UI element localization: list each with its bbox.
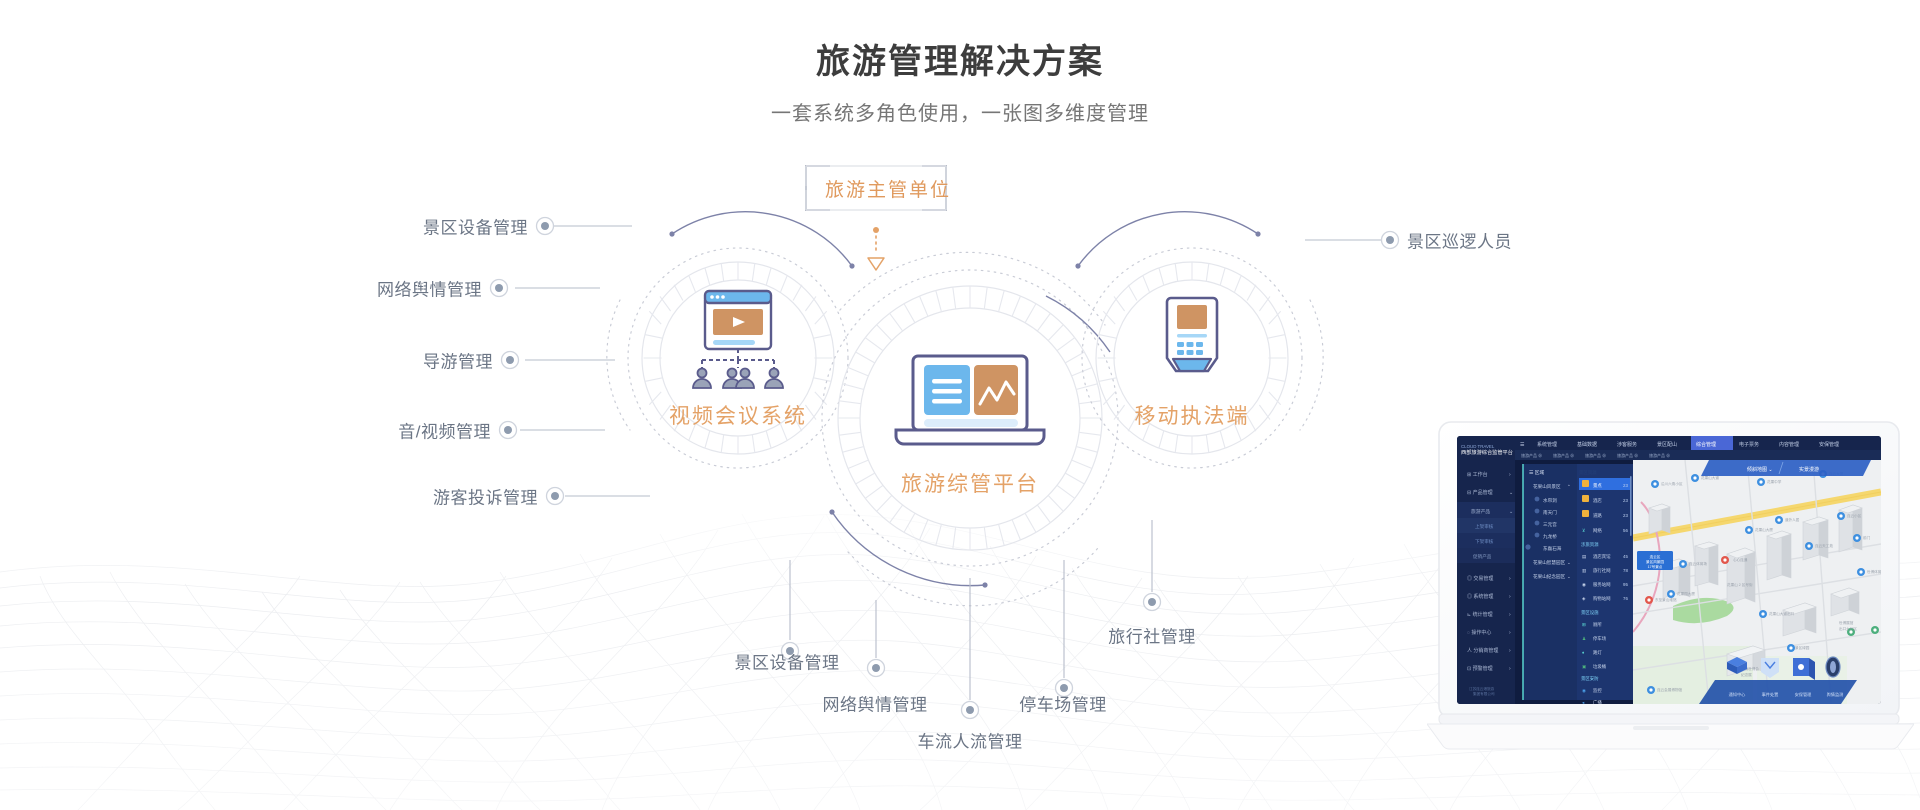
svg-text:三元宫: 三元宫 bbox=[1543, 521, 1557, 528]
svg-text:舆情监测: 舆情监测 bbox=[1827, 691, 1844, 698]
node-label-mobile-enforcement[interactable]: 移动执法端 bbox=[1135, 400, 1250, 430]
bottom-label-3[interactable]: 停车场管理 bbox=[1019, 691, 1107, 716]
svg-text:◎ 系统管理: ◎ 系统管理 bbox=[1467, 593, 1493, 600]
svg-text:倾斜地图 ⌄: 倾斜地图 ⌄ bbox=[1747, 466, 1773, 473]
svg-text:⌄: ⌄ bbox=[1509, 510, 1513, 515]
laptop-mockup[interactable]: 沿川六角小区 花果山大道 花果中学 连云大厦 道外人居 连云小区 前门 连云天工… bbox=[1427, 418, 1914, 763]
svg-text:西部旅游综合监管平台: 西部旅游综合监管平台 bbox=[1461, 448, 1513, 456]
svg-text:CLOUD TRAVEL: CLOUD TRAVEL bbox=[1461, 444, 1495, 449]
svg-text:沿川六角小区: 沿川六角小区 bbox=[1661, 481, 1683, 486]
svg-text:东至景山维馆: 东至景山维馆 bbox=[1655, 597, 1677, 602]
node-label-tourism-platform[interactable]: 旅游综管平台 bbox=[901, 468, 1039, 498]
laptop-dashboard-icon bbox=[896, 356, 1044, 444]
svg-text:景区设施: 景区设施 bbox=[1581, 609, 1599, 616]
svg-text:厕所: 厕所 bbox=[1593, 621, 1602, 628]
svg-text:◎ 交易管理: ◎ 交易管理 bbox=[1467, 575, 1493, 582]
svg-text:景区配山: 景区配山 bbox=[1657, 441, 1677, 448]
left-connector-dots bbox=[491, 218, 564, 505]
svg-text:☰: ☰ bbox=[1520, 442, 1525, 448]
governing-unit-box[interactable]: 旅游主管单位 bbox=[806, 166, 971, 210]
svg-text:出口大厅区: 出口大厅区 bbox=[1839, 626, 1857, 631]
svg-text:⊻: ⊻ bbox=[1582, 528, 1585, 533]
svg-text:旅行社网: 旅行社网 bbox=[1593, 567, 1611, 574]
svg-text:道路: 道路 bbox=[1593, 512, 1602, 519]
svg-text:基础数据: 基础数据 bbox=[1577, 441, 1597, 448]
svg-text:下架审核: 下架审核 bbox=[1475, 538, 1494, 545]
svg-text:连云小区: 连云小区 bbox=[1847, 513, 1862, 518]
svg-text:江苏连云港旅游: 江苏连云港旅游 bbox=[1469, 686, 1495, 691]
svg-text:网络: 网络 bbox=[1593, 527, 1602, 534]
svg-text:停车场: 停车场 bbox=[1593, 635, 1607, 642]
svg-text:心心连通: 心心连通 bbox=[1733, 557, 1748, 562]
svg-text:花果山大道出口: 花果山大道出口 bbox=[1769, 611, 1795, 616]
svg-text:⊞: ⊞ bbox=[1582, 622, 1586, 627]
svg-text:旅游产品 ⊗: 旅游产品 ⊗ bbox=[1585, 452, 1606, 458]
svg-text:花果山 2 区号街: 花果山 2 区号街 bbox=[1727, 582, 1753, 587]
svg-text:服务站网: 服务站网 bbox=[1593, 581, 1611, 588]
svg-text:旅游产品 ⊗: 旅游产品 ⊗ bbox=[1649, 452, 1670, 458]
svg-text:花果山风景区: 花果山风景区 bbox=[1533, 483, 1561, 490]
svg-text:23: 23 bbox=[1623, 513, 1628, 518]
svg-text:⊟ 产品管理: ⊟ 产品管理 bbox=[1467, 489, 1493, 496]
svg-text:电子票务: 电子票务 bbox=[1739, 441, 1759, 448]
svg-text:⊾ 统计管理: ⊾ 统计管理 bbox=[1467, 611, 1493, 618]
svg-text:实景漫游: 实景漫游 bbox=[1799, 466, 1819, 473]
svg-text:促销产品: 促销产品 bbox=[1473, 553, 1492, 560]
svg-text:▣: ▣ bbox=[1582, 664, 1586, 669]
bottom-label-0[interactable]: 景区设备管理 bbox=[735, 649, 840, 674]
svg-text:集团有限公司: 集团有限公司 bbox=[1473, 691, 1495, 696]
right-label-0[interactable]: 景区巡逻人员 bbox=[1407, 228, 1512, 253]
svg-text:花果中学: 花果中学 bbox=[1767, 479, 1782, 484]
svg-text:系统管理: 系统管理 bbox=[1537, 441, 1557, 448]
page-root: 旅游管理解决方案 一套系统多角色使用，一张图多维度管理 .ring-solid{… bbox=[0, 0, 1920, 810]
svg-text:⌄: ⌄ bbox=[1509, 490, 1513, 496]
svg-text:45: 45 bbox=[1623, 554, 1628, 559]
svg-text:南天门: 南天门 bbox=[1543, 509, 1557, 516]
svg-text:23: 23 bbox=[1623, 498, 1628, 503]
svg-text:纪念展: 纪念展 bbox=[1741, 672, 1752, 677]
svg-text:⊞ 工作台: ⊞ 工作台 bbox=[1467, 471, 1488, 478]
bottom-label-4[interactable]: 旅行社管理 bbox=[1108, 623, 1196, 648]
svg-text:旅游产品 ⊗: 旅游产品 ⊗ bbox=[1521, 452, 1542, 458]
svg-text:九龙桥: 九龙桥 bbox=[1543, 533, 1557, 540]
left-label-0[interactable]: 景区设备管理 bbox=[423, 214, 528, 239]
svg-text:花果园大厦: 花果园大厦 bbox=[1677, 591, 1695, 596]
svg-text:景区安防: 景区安防 bbox=[1581, 675, 1599, 682]
right-connector-dots bbox=[1382, 232, 1399, 249]
svg-text:76: 76 bbox=[1623, 596, 1628, 601]
svg-text:涉客服务: 涉客服务 bbox=[1617, 441, 1637, 448]
video-conference-icon bbox=[693, 291, 783, 388]
svg-text:旅游产品: 旅游产品 bbox=[1471, 508, 1490, 515]
svg-text:连云区: 连云区 bbox=[1650, 554, 1661, 559]
svg-text:景区风景园: 景区风景园 bbox=[1646, 559, 1664, 564]
svg-text:酒店宾馆: 酒店宾馆 bbox=[1593, 553, 1611, 560]
svg-text:◉: ◉ bbox=[1582, 582, 1586, 587]
svg-text:23: 23 bbox=[1623, 483, 1628, 488]
svg-text:⌄: ⌄ bbox=[1567, 574, 1571, 579]
svg-text:花果山纪念园区: 花果山纪念园区 bbox=[1533, 573, 1566, 580]
svg-text:安保管理: 安保管理 bbox=[1795, 691, 1813, 698]
svg-text:连云体育场: 连云体育场 bbox=[1689, 561, 1707, 566]
svg-text:◌ 操作中心: ◌ 操作中心 bbox=[1467, 629, 1491, 636]
svg-text:⌄: ⌄ bbox=[1567, 560, 1571, 565]
svg-text:花果山智慧园区: 花果山智慧园区 bbox=[1533, 559, 1566, 566]
svg-text:东磊石海: 东磊石海 bbox=[1543, 545, 1562, 552]
svg-text:路灯: 路灯 bbox=[1593, 649, 1602, 656]
left-label-4[interactable]: 游客投诉管理 bbox=[433, 484, 538, 509]
svg-text:旅游产品 ⊗: 旅游产品 ⊗ bbox=[1553, 452, 1574, 458]
svg-text:17号景点: 17号景点 bbox=[1648, 564, 1663, 569]
svg-text:世博展馆: 世博展馆 bbox=[1839, 620, 1854, 625]
svg-text:◉: ◉ bbox=[1582, 688, 1586, 693]
svg-text:综合管理: 综合管理 bbox=[1696, 441, 1716, 448]
governing-unit-label: 旅游主管单位 bbox=[825, 175, 951, 202]
svg-text:购物站网: 购物站网 bbox=[1593, 595, 1611, 602]
left-connector-lines bbox=[515, 226, 650, 496]
svg-text:通知中心: 通知中心 bbox=[1729, 691, 1747, 698]
svg-text:上架审核: 上架审核 bbox=[1475, 523, 1494, 530]
svg-text:垃圾桶: 垃圾桶 bbox=[1593, 663, 1607, 670]
svg-text:涉旅资源: 涉旅资源 bbox=[1581, 541, 1599, 548]
laptop-screen-content: 沿川六角小区 花果山大道 花果中学 连云大厦 道外人居 连云小区 前门 连云天工… bbox=[1457, 436, 1899, 706]
svg-text:☰ 区域: ☰ 区域 bbox=[1529, 469, 1544, 476]
svg-text:▤: ▤ bbox=[1582, 554, 1586, 559]
svg-text:旅游产品 ⊗: 旅游产品 ⊗ bbox=[1617, 452, 1638, 458]
left-label-2[interactable]: 导游管理 bbox=[423, 348, 493, 373]
svg-text:景区绿园: 景区绿园 bbox=[1795, 645, 1810, 650]
svg-text:内容管理: 内容管理 bbox=[1779, 441, 1799, 448]
svg-text:人 分销商管理: 人 分销商管理 bbox=[1467, 647, 1498, 654]
svg-text:78: 78 bbox=[1623, 568, 1628, 573]
svg-text:道外人居: 道外人居 bbox=[1785, 517, 1800, 522]
svg-text:前门: 前门 bbox=[1863, 535, 1871, 540]
handheld-device-icon bbox=[1167, 298, 1217, 371]
svg-text:连云天工苑: 连云天工苑 bbox=[1815, 543, 1833, 548]
svg-text:▥: ▥ bbox=[1582, 568, 1586, 573]
svg-text:56: 56 bbox=[1623, 528, 1628, 533]
svg-text:95: 95 bbox=[1623, 582, 1628, 587]
svg-text:连云会展博物馆: 连云会展博物馆 bbox=[1657, 687, 1683, 692]
gov-down-arrow-icon bbox=[868, 227, 884, 270]
svg-text:⌃: ⌃ bbox=[1567, 484, 1571, 489]
svg-text:事件处置: 事件处置 bbox=[1762, 691, 1779, 698]
svg-text:♟: ♟ bbox=[1582, 636, 1586, 641]
bottom-label-2[interactable]: 车流人流管理 bbox=[918, 728, 1023, 753]
bottom-connector-lines bbox=[790, 520, 1152, 700]
node-label-video-conference[interactable]: 视频会议系统 bbox=[669, 400, 807, 430]
left-label-3[interactable]: 音/视频管理 bbox=[398, 418, 491, 443]
bottom-label-1[interactable]: 网络舆情管理 bbox=[823, 691, 928, 716]
svg-text:⊡ 预警管理: ⊡ 预警管理 bbox=[1467, 665, 1493, 672]
left-label-1[interactable]: 网络舆情管理 bbox=[377, 276, 482, 301]
svg-text:水帘洞: 水帘洞 bbox=[1543, 497, 1557, 504]
svg-text:花果山大厦: 花果山大厦 bbox=[1755, 527, 1773, 532]
map-view-buttons[interactable]: 倾斜地图 ⌄ 实景漫游 bbox=[1701, 460, 1871, 476]
svg-text:监控: 监控 bbox=[1593, 687, 1602, 694]
svg-text:安保管理: 安保管理 bbox=[1819, 441, 1839, 448]
svg-text:酒店: 酒店 bbox=[1593, 497, 1602, 504]
